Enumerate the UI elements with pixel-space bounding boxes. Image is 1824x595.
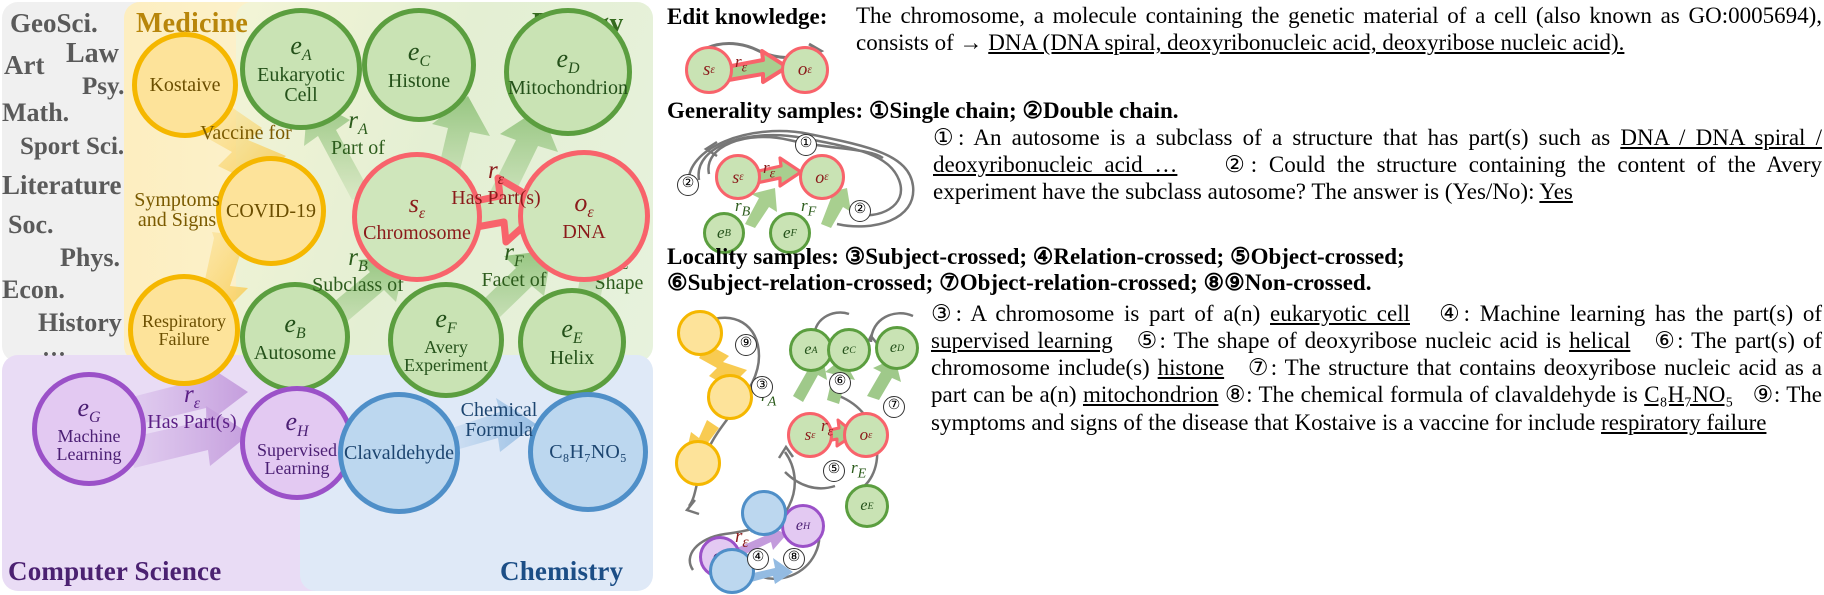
discipline-title-computer-science: Computer Science bbox=[8, 556, 221, 587]
edit-knowledge-diagram: sε oε rε bbox=[675, 34, 845, 94]
field-label-geosci: GeoSci. bbox=[10, 8, 98, 39]
node-label: Histone bbox=[388, 71, 450, 91]
locality-items-text: ③: A chromosome is part of a(n) eukaryot… bbox=[931, 300, 1822, 436]
locality-item-4-answer: supervised learning bbox=[931, 328, 1113, 353]
generality-heading-text: Generality samples: bbox=[667, 98, 863, 123]
marker-2a: ② bbox=[677, 174, 699, 196]
mini-relation-re-cs: rε bbox=[735, 526, 749, 552]
node-id: eG bbox=[77, 395, 100, 426]
node-id: oε bbox=[574, 190, 593, 221]
edit-knowledge-text: The chromosome, a molecule containing th… bbox=[856, 2, 1822, 56]
mini-node-eC: eC bbox=[827, 328, 871, 372]
locality-item-6-answer: histone bbox=[1158, 355, 1224, 380]
node-id: eD bbox=[556, 46, 579, 77]
field-label-art: Art bbox=[4, 50, 44, 81]
explanation-panel: Edit knowledge: sε oε rε The chromosome,… bbox=[663, 0, 1824, 593]
field-label-history: History bbox=[38, 308, 122, 338]
node-supervised-learning[interactable]: eH Supervised Learning bbox=[240, 386, 354, 500]
node-mitochondrion[interactable]: eD Mitochondrion bbox=[504, 8, 632, 136]
generality-q2-num: ② bbox=[1224, 152, 1251, 177]
mini-relation-rE: rE bbox=[851, 458, 866, 482]
mini-node-yellow-2 bbox=[707, 374, 753, 420]
mini-node-yellow-1 bbox=[677, 310, 723, 356]
relation-label: Chemical Formula bbox=[450, 400, 548, 440]
node-label: C₈H₇NO₅ bbox=[549, 442, 627, 462]
relation-chemical-formula: Chemical Formula bbox=[450, 400, 548, 440]
mini-relation-rB: rB bbox=[735, 196, 750, 220]
edit-knowledge-heading: Edit knowledge: bbox=[667, 4, 827, 30]
marker-2b: ② bbox=[849, 200, 871, 222]
locality-item-4-num: ④ bbox=[1439, 301, 1464, 326]
mini-node-object: oε bbox=[799, 154, 845, 200]
locality-heading: Locality samples: ③Subject-crossed; ④Rel… bbox=[667, 244, 1822, 270]
marker-1: ① bbox=[795, 134, 817, 156]
node-id: eH bbox=[285, 409, 308, 440]
node-label: DNA bbox=[562, 222, 605, 242]
mini-node-yellow-3 bbox=[675, 440, 721, 486]
generality-types: ①Single chain; ②Double chain. bbox=[869, 98, 1179, 123]
node-id: sε bbox=[409, 191, 425, 222]
node-autosome[interactable]: eB Autosome bbox=[240, 282, 350, 392]
locality-diagram: eG eH eA eC eD sε oε eE bbox=[663, 300, 933, 590]
node-label: Autosome bbox=[254, 343, 336, 363]
marker-6: ⑥ bbox=[829, 372, 851, 394]
mini-node-eE: eE bbox=[845, 484, 889, 528]
node-label: Supervised Learning bbox=[245, 441, 349, 477]
relation-label: Has Part(s) bbox=[130, 412, 254, 432]
generality-heading: Generality samples: ①Single chain; ②Doub… bbox=[667, 98, 1178, 124]
mini-relation-re: rε bbox=[821, 416, 833, 440]
field-label-psy: Psy. bbox=[82, 73, 124, 101]
marker-7: ⑦ bbox=[883, 396, 905, 418]
node-label: Kostaive bbox=[149, 75, 220, 95]
field-label-math: Math. bbox=[2, 98, 69, 128]
node-id: eE bbox=[561, 316, 582, 347]
node-id: eA bbox=[290, 33, 311, 64]
field-label-law: Law bbox=[66, 38, 119, 70]
locality-item-3-num: ③ bbox=[931, 301, 956, 326]
figure-root: Medicine Biology Computer Science Chemis… bbox=[0, 0, 1824, 593]
relation-label: Symptoms and Signs bbox=[122, 190, 232, 230]
locality-item-3-pre: : A chromosome is part of a(n) bbox=[956, 301, 1270, 326]
node-label: Helix bbox=[550, 348, 594, 368]
node-id: eF bbox=[435, 306, 456, 337]
locality-item-8-answer: C₈H₇NO₅ bbox=[1644, 382, 1733, 407]
node-label: Eukaryotic Cell bbox=[245, 65, 357, 105]
marker-5: ⑤ bbox=[823, 460, 845, 482]
locality-item-5-pre: : The shape of deoxyribose nucleic acid … bbox=[1160, 328, 1570, 353]
locality-item-9-answer: respiratory failure bbox=[1601, 410, 1766, 435]
edit-text-answer: DNA (DNA spiral, deoxyribonucleic acid, … bbox=[988, 30, 1624, 55]
node-id: eB bbox=[284, 311, 305, 342]
locality-item-5-num: ⑤ bbox=[1137, 328, 1160, 353]
locality-item-3-answer: eukaryotic cell bbox=[1270, 301, 1410, 326]
discipline-title-chemistry: Chemistry bbox=[500, 556, 623, 587]
locality-types-line1: ③Subject-crossed; ④Relation-crossed; ⑤Ob… bbox=[845, 244, 1405, 269]
mini-node-object: oε bbox=[843, 412, 889, 458]
marker-8: ⑧ bbox=[783, 548, 805, 570]
relation-label: Has Part(s) bbox=[426, 188, 566, 208]
locality-types-line2-row: ⑥Subject-relation-crossed; ⑦Object-relat… bbox=[667, 270, 1822, 296]
marker-4: ④ bbox=[747, 548, 769, 570]
node-label: Machine Learning bbox=[37, 427, 141, 463]
node-clavaldehyde[interactable]: Clavaldehyde bbox=[338, 392, 460, 514]
knowledge-graph-panel: Medicine Biology Computer Science Chemis… bbox=[0, 0, 655, 593]
locality-item-7-num: ⑦ bbox=[1248, 355, 1271, 380]
locality-heading-text: Locality samples: bbox=[667, 244, 839, 269]
node-label: COVID-19 bbox=[226, 201, 316, 221]
mini-relation-re: rε bbox=[763, 158, 775, 182]
locality-types-line2: ⑥Subject-relation-crossed; ⑦Object-relat… bbox=[667, 270, 1371, 295]
field-label-literature: Literature bbox=[2, 170, 121, 201]
locality-item-5-answer: helical bbox=[1569, 328, 1630, 353]
node-label: Avery Experiment bbox=[393, 338, 499, 374]
node-label: Respiratory Failure bbox=[133, 312, 235, 348]
generality-q1-pre: : An autosome is a subclass of a structu… bbox=[958, 125, 1620, 150]
relation-id: rε bbox=[426, 158, 566, 188]
node-histone[interactable]: eC Histone bbox=[362, 8, 476, 122]
node-label: Chromosome bbox=[363, 223, 471, 243]
locality-item-7-answer: mitochondrion bbox=[1083, 382, 1218, 407]
locality-item-4-pre: : Machine learning has the part(s) of bbox=[1464, 301, 1822, 326]
node-id: eC bbox=[408, 39, 430, 70]
mini-node-subject: sε bbox=[685, 46, 733, 94]
mini-node-subject: sε bbox=[715, 154, 761, 200]
generality-q1-num: ① bbox=[933, 125, 958, 150]
generality-qa-text: ①: An autosome is a subclass of a struct… bbox=[933, 124, 1822, 205]
generality-q2-answer: Yes bbox=[1539, 179, 1572, 204]
marker-9: ⑨ bbox=[735, 334, 757, 356]
field-label-soc: Soc. bbox=[8, 210, 54, 240]
locality-item-8-num: ⑧ bbox=[1225, 382, 1246, 407]
relation-has-parts-cs: rε Has Part(s) bbox=[130, 382, 254, 432]
relation-has-parts: rε Has Part(s) bbox=[426, 158, 566, 208]
node-avery-experiment[interactable]: eF Avery Experiment bbox=[388, 282, 504, 398]
node-machine-learning[interactable]: eG Machine Learning bbox=[32, 372, 146, 486]
generality-diagram: sε oε eB eF rε rB rF ① ② ② bbox=[673, 128, 933, 238]
marker-3: ③ bbox=[751, 376, 773, 398]
node-label: Mitochondrion bbox=[508, 78, 628, 98]
locality-item-6-num: ⑥ bbox=[1654, 328, 1677, 353]
relation-part-of: rA Part of bbox=[300, 108, 416, 158]
mini-node-eD: eD bbox=[875, 326, 919, 370]
relation-id: rA bbox=[300, 108, 416, 138]
node-label: Clavaldehyde bbox=[344, 443, 454, 463]
relation-symptoms-and-signs: Symptoms and Signs bbox=[122, 190, 232, 230]
field-label-sport-sci: Sport Sci. bbox=[20, 133, 124, 161]
mini-relation-rF: rF bbox=[801, 196, 816, 220]
field-label-phys: Phys. bbox=[60, 243, 120, 273]
mini-node-object: oε bbox=[781, 46, 829, 94]
field-label-econ: Econ. bbox=[2, 275, 65, 305]
relation-id: rε bbox=[130, 382, 254, 412]
mini-node-eH: eH bbox=[781, 504, 825, 548]
node-helix[interactable]: eE Helix bbox=[518, 288, 626, 396]
locality-item-8-pre: : The chemical formula of clavaldehyde i… bbox=[1246, 382, 1644, 407]
locality-item-9-num: ⑨ bbox=[1753, 382, 1774, 407]
mini-relation-label: rε bbox=[735, 52, 747, 76]
field-label-ellipsis: ··· bbox=[42, 342, 66, 369]
node-respiratory-failure[interactable]: Respiratory Failure bbox=[128, 274, 240, 386]
